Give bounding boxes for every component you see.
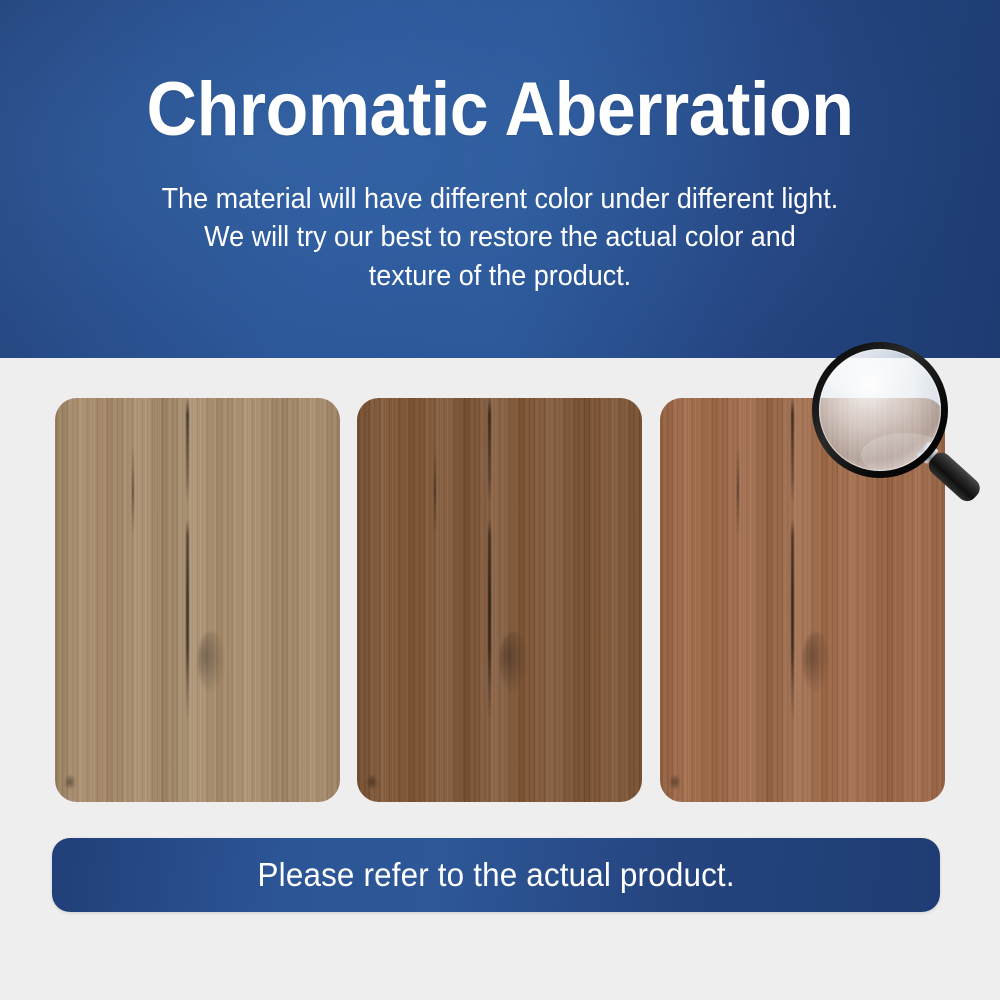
subtitle-line-3: texture of the product.	[35, 257, 965, 295]
wood-sample-light-oak	[55, 398, 340, 802]
chromatic-aberration-notice: Chromatic Aberration The material will h…	[0, 0, 1000, 1000]
footer-banner-text: Please refer to the actual product.	[257, 856, 734, 894]
page-title: Chromatic Aberration	[40, 72, 960, 148]
subtitle-line-1: The material will have different color u…	[35, 180, 965, 218]
header-subtitle: The material will have different color u…	[35, 180, 965, 295]
subtitle-line-2: We will try our best to restore the actu…	[35, 218, 965, 256]
header-banner: Chromatic Aberration The material will h…	[0, 0, 1000, 358]
wood-vignette	[55, 398, 340, 802]
wood-vignette	[660, 398, 945, 802]
footer-banner: Please refer to the actual product.	[52, 838, 940, 912]
wood-sample-walnut	[357, 398, 642, 802]
wood-vignette	[357, 398, 642, 802]
wood-sample-row	[55, 398, 945, 802]
wood-sample-reddish-oak	[660, 398, 945, 802]
